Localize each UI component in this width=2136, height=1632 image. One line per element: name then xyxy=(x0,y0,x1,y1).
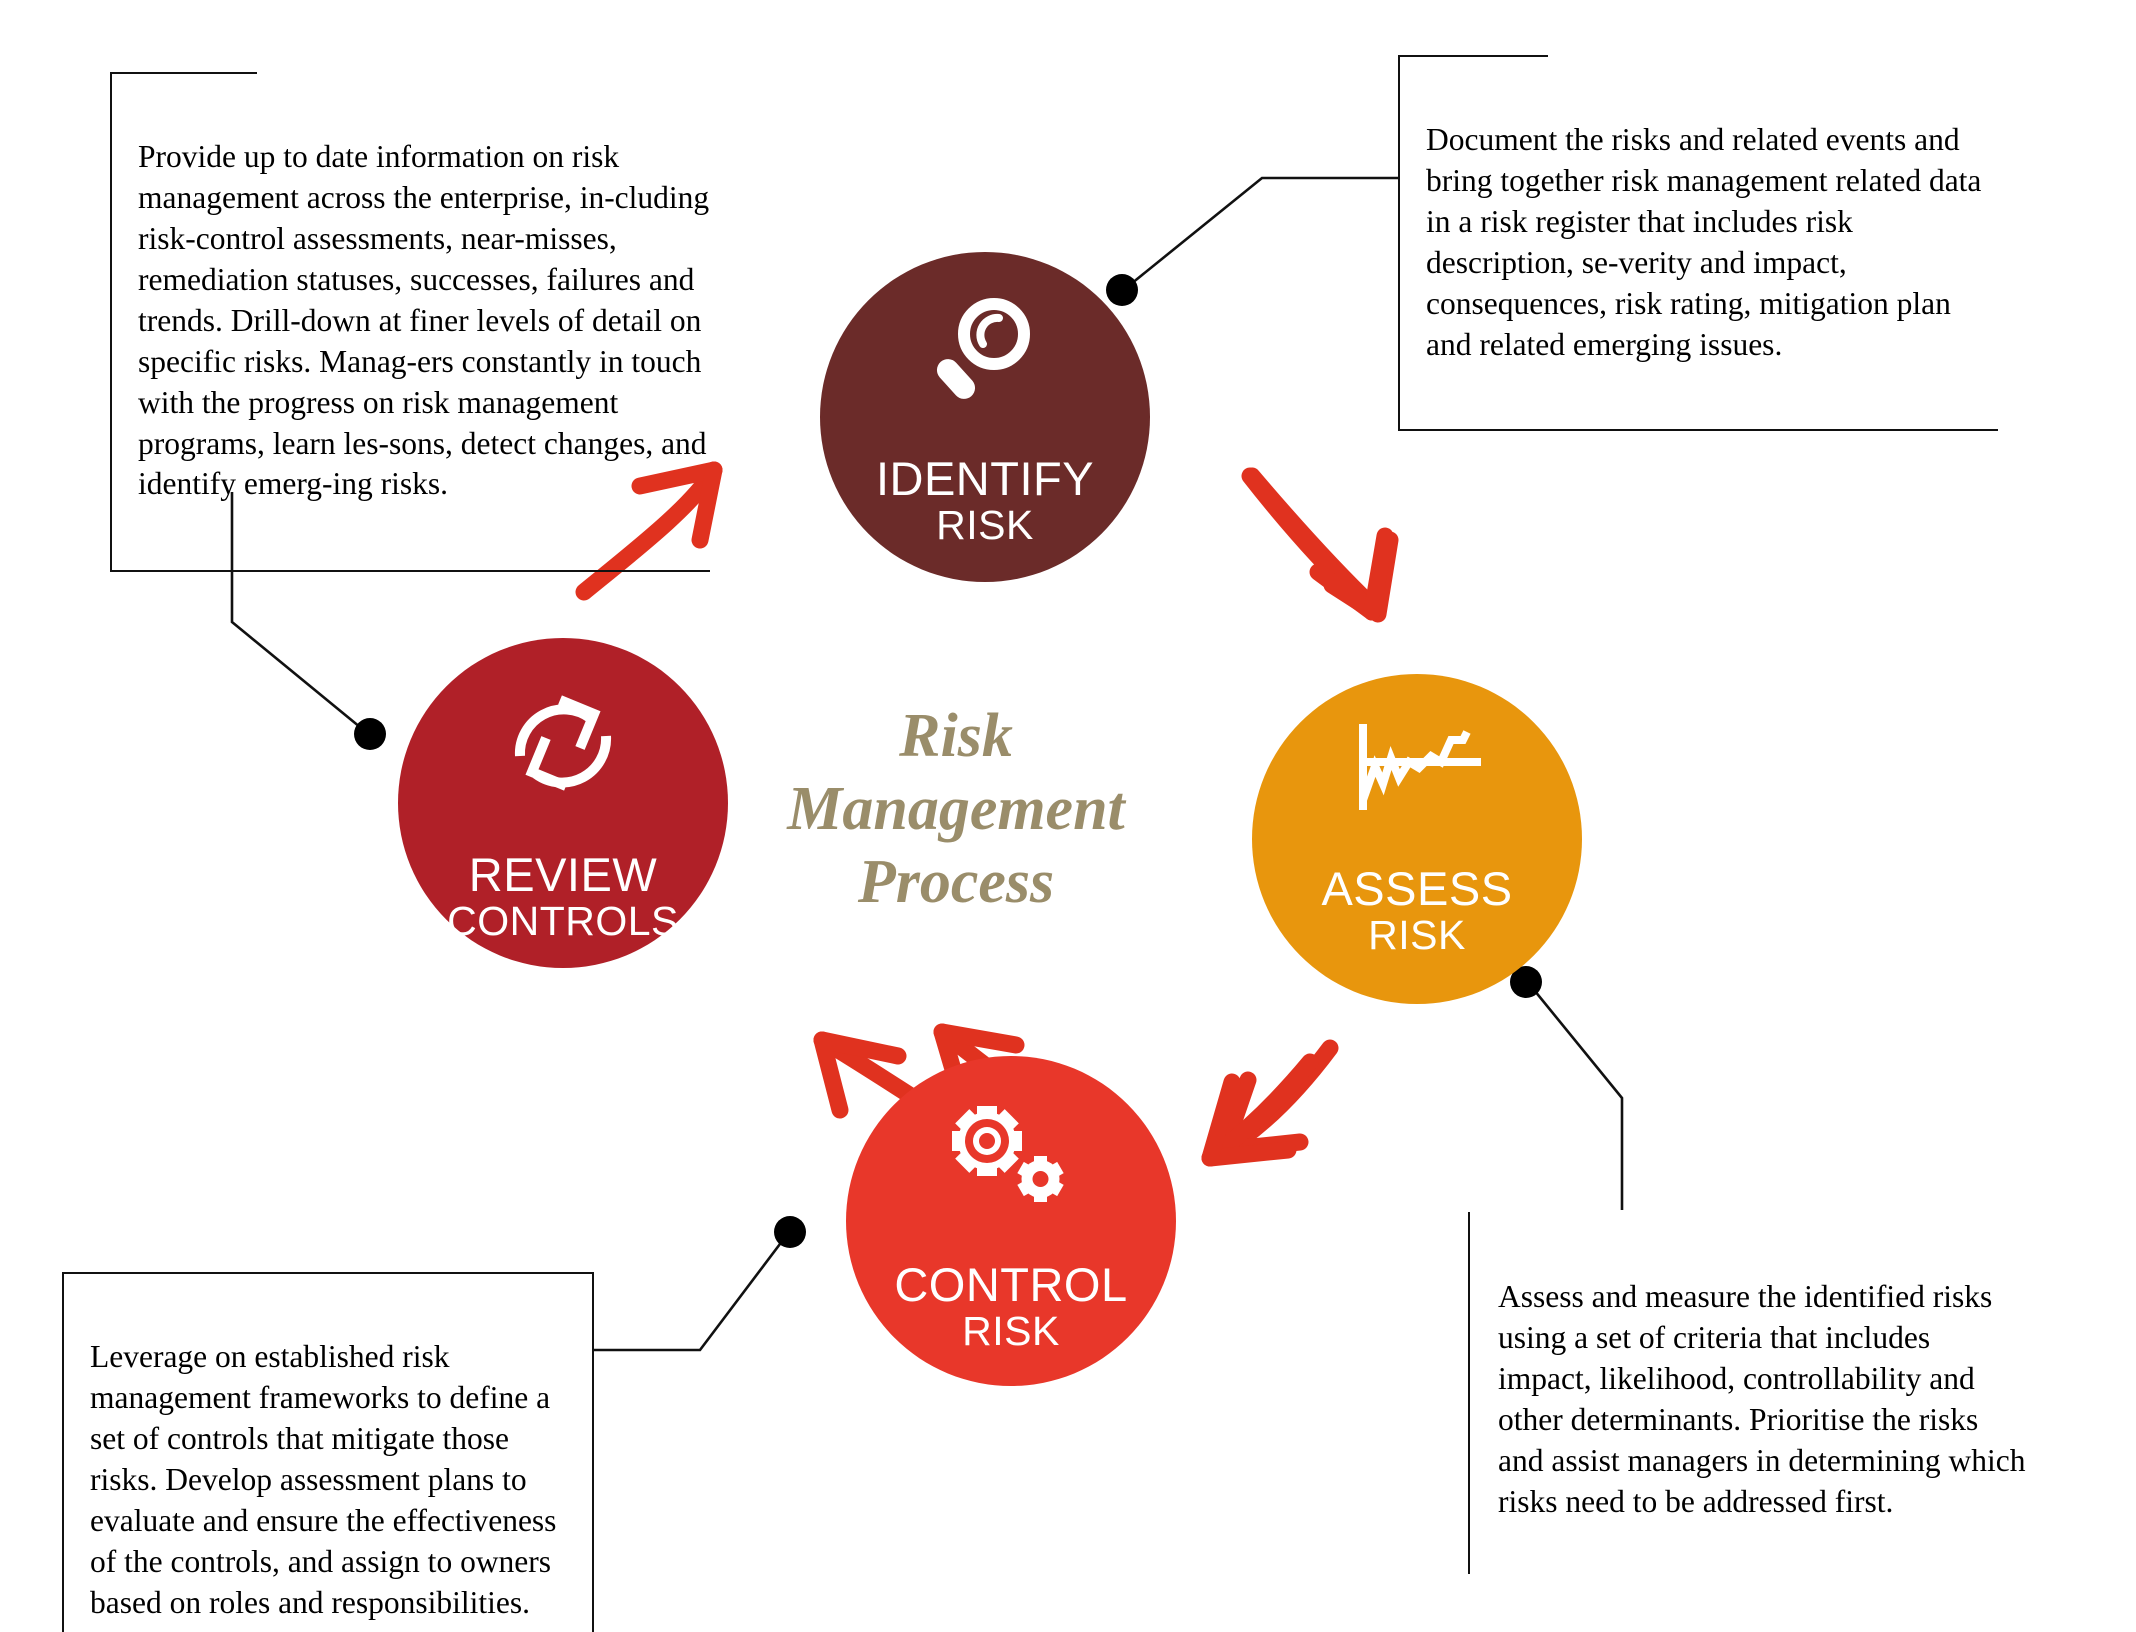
node-control-label-line2: RISK xyxy=(962,1309,1060,1355)
risk-management-process-diagram: Provide up to date information on risk m… xyxy=(0,0,2136,1632)
line-chart-icon xyxy=(1353,722,1481,817)
connector-identify xyxy=(1126,178,1398,288)
callout-review-controls: Provide up to date information on risk m… xyxy=(110,72,710,572)
gears-icon xyxy=(947,1104,1075,1213)
connector-dot-control xyxy=(774,1216,806,1248)
node-identify-label-line2: RISK xyxy=(936,503,1034,549)
connector-assess xyxy=(1530,985,1622,1212)
refresh-cycle-icon xyxy=(504,684,622,807)
node-control-risk[interactable]: CONTROL RISK xyxy=(846,1056,1176,1386)
callout-assess-risk-text: Assess and measure the identified risks … xyxy=(1498,1277,2028,1523)
callout-identify-risk-text: Document the risks and related events an… xyxy=(1426,120,1998,366)
node-assess-label-line1: ASSESS xyxy=(1321,865,1512,913)
arrow-bottom-right xyxy=(1210,1062,1310,1158)
magnifier-icon xyxy=(925,294,1045,417)
connector-dot-identify xyxy=(1106,274,1138,306)
node-review-label-line2: CONTROLS xyxy=(447,899,679,945)
callout-control-risk-text: Leverage on established risk management … xyxy=(90,1337,566,1624)
node-identify-risk[interactable]: IDENTIFY RISK xyxy=(820,252,1150,582)
node-control-label-line1: CONTROL xyxy=(894,1261,1127,1309)
node-assess-label-line2: RISK xyxy=(1368,913,1466,959)
callout-control-risk: Leverage on established risk management … xyxy=(62,1272,594,1632)
node-review-label-line1: REVIEW xyxy=(469,851,657,899)
arrow-top-right xyxy=(1250,476,1385,612)
node-identify-label-line1: IDENTIFY xyxy=(876,455,1094,503)
node-assess-risk[interactable]: ASSESS RISK xyxy=(1252,674,1582,1004)
callout-assess-risk: Assess and measure the identified risks … xyxy=(1468,1212,2028,1574)
connector-dot-review xyxy=(354,718,386,750)
callout-review-controls-text: Provide up to date information on risk m… xyxy=(138,137,710,505)
node-review-controls[interactable]: REVIEW CONTROLS xyxy=(398,638,728,968)
connector-control xyxy=(594,1236,786,1350)
page-title: Risk Management Process xyxy=(746,700,1166,919)
arrow-assess-to-control xyxy=(1224,1048,1330,1150)
callout-identify-risk: Document the risks and related events an… xyxy=(1398,55,1998,431)
